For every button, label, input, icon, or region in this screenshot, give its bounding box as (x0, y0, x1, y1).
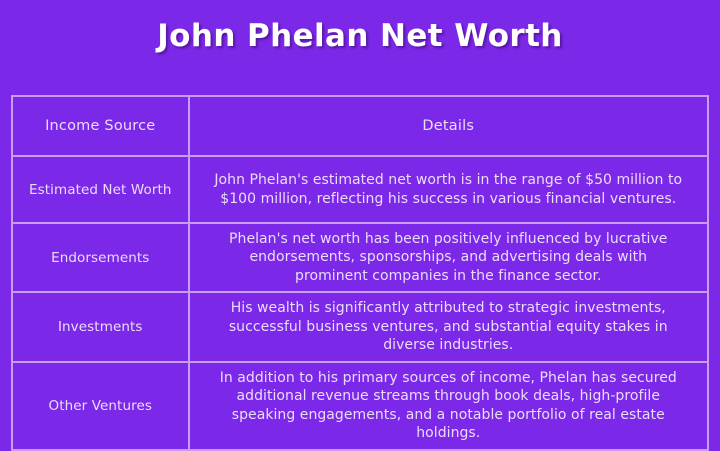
cell-income-source: Investments (12, 292, 189, 361)
table-header: Income Source Details (12, 96, 708, 156)
cell-details: His wealth is significantly attributed t… (189, 292, 709, 361)
column-header-details: Details (189, 96, 709, 156)
cell-details: Phelan's net worth has been positively i… (189, 223, 709, 292)
table-row: Other Ventures In addition to his primar… (12, 362, 708, 450)
cell-income-source: Estimated Net Worth (12, 156, 189, 223)
table-header-row: Income Source Details (12, 96, 708, 156)
cell-income-source: Endorsements (12, 223, 189, 292)
table-row: Investments His wealth is significantly … (12, 292, 708, 361)
cell-details: In addition to his primary sources of in… (189, 362, 709, 450)
table-row: Endorsements Phelan's net worth has been… (12, 223, 708, 292)
cell-details: John Phelan's estimated net worth is in … (189, 156, 709, 223)
table-row: Estimated Net Worth John Phelan's estima… (12, 156, 708, 223)
page-title: John Phelan Net Worth (0, 18, 720, 54)
table-body: Estimated Net Worth John Phelan's estima… (12, 156, 708, 450)
cell-income-source: Other Ventures (12, 362, 189, 450)
column-header-income-source: Income Source (12, 96, 189, 156)
net-worth-table: Income Source Details Estimated Net Wort… (11, 95, 709, 451)
page-root: John Phelan Net Worth Income Source Deta… (0, 0, 720, 428)
